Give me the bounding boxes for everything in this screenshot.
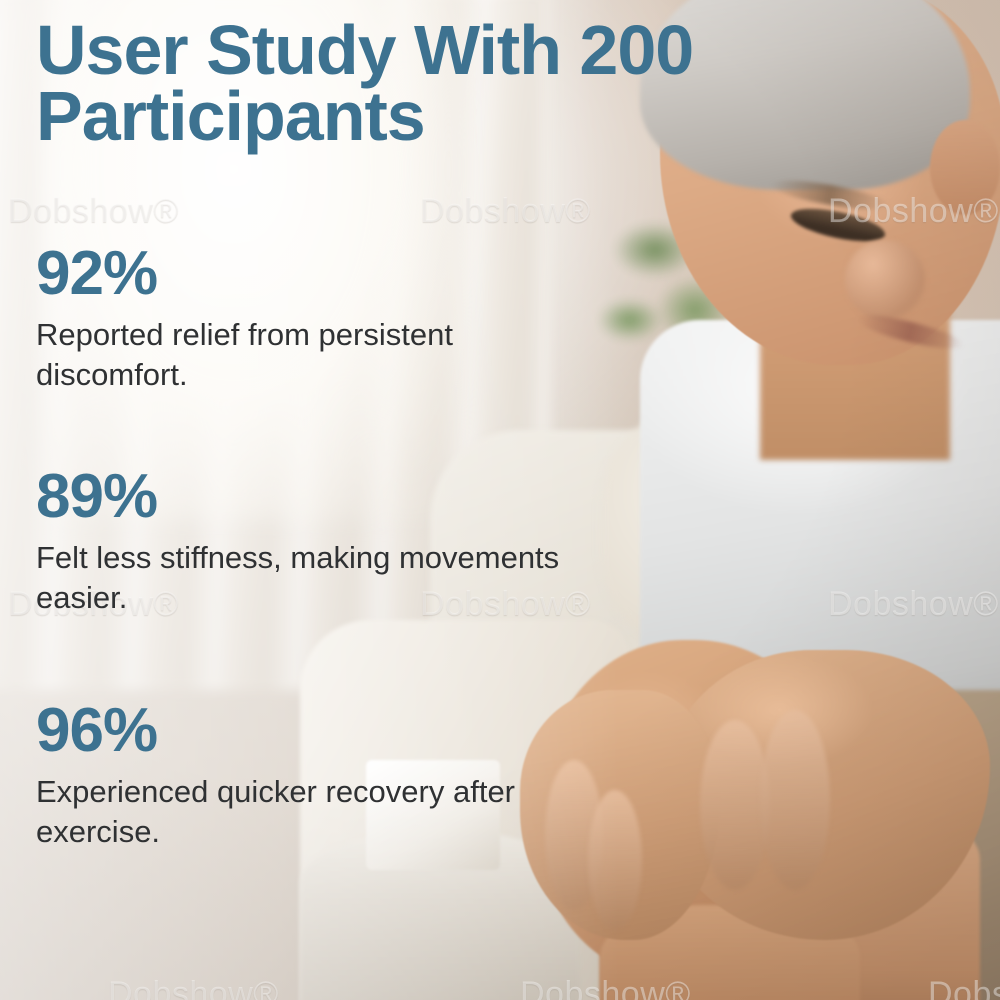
stat-description: Reported relief from persistent discomfo… xyxy=(36,315,576,394)
stat-block: 92% Reported relief from persistent disc… xyxy=(36,243,576,394)
stat-percent: 92% xyxy=(36,243,576,305)
stat-block: 96% Experienced quicker recovery after e… xyxy=(36,700,576,851)
promo-image: Dobshow® Dobshow® Dobshow® Dobshow® Dobs… xyxy=(0,0,1000,1000)
stat-percent: 89% xyxy=(36,466,576,528)
page-title: User Study With 200 Participants xyxy=(36,18,756,150)
stat-block: 89% Felt less stiffness, making movement… xyxy=(36,466,576,617)
stat-description: Felt less stiffness, making movements ea… xyxy=(36,538,576,617)
stat-description: Experienced quicker recovery after exerc… xyxy=(36,772,576,851)
overlay-text: User Study With 200 Participants 92% Rep… xyxy=(0,0,1000,1000)
stat-percent: 96% xyxy=(36,700,576,762)
